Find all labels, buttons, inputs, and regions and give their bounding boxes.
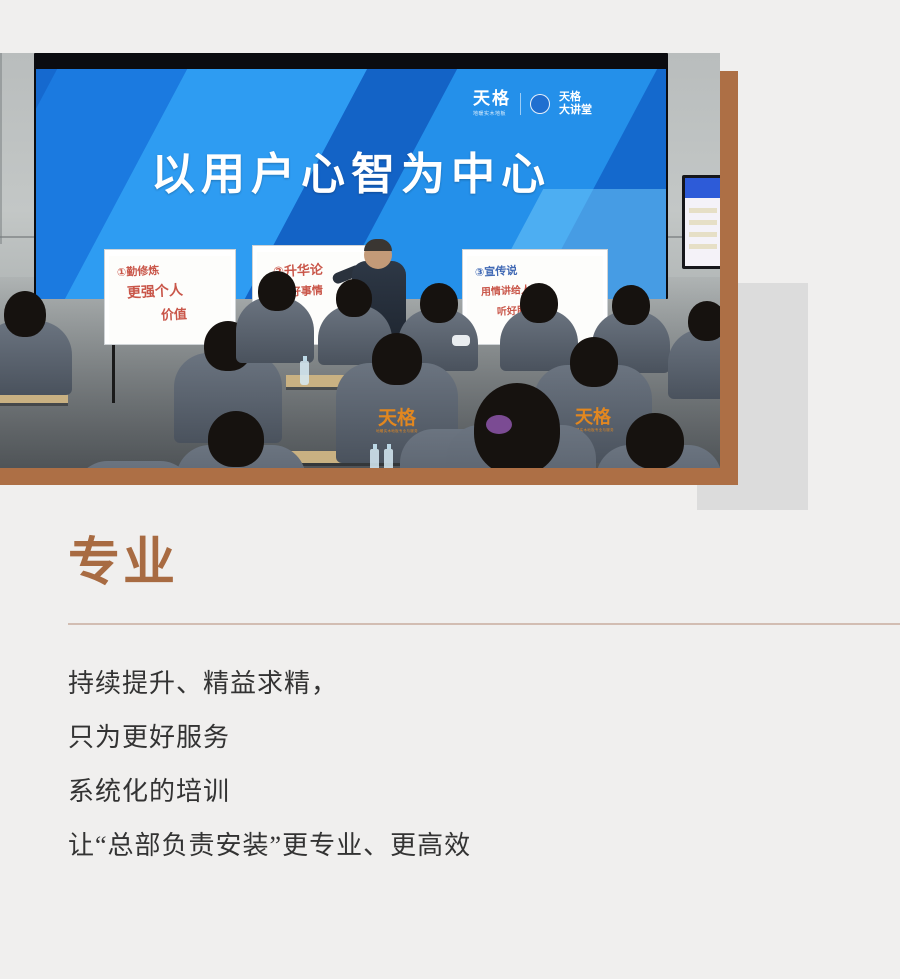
audience-head — [570, 337, 618, 387]
wall-monitor-row — [689, 208, 717, 213]
audience-head — [208, 411, 264, 467]
wall-monitor-screen — [685, 178, 720, 266]
water-bottle — [384, 449, 393, 468]
water-bottle — [370, 449, 379, 468]
frame-bottom-band — [0, 468, 738, 485]
brand-logo-tagline: 地暖实木地板 — [473, 110, 511, 117]
wall-seam-vertical — [0, 53, 2, 244]
audience-head — [372, 333, 422, 385]
audience-head — [4, 291, 46, 337]
audience-head — [688, 301, 720, 341]
flipchart-note: 价值 — [161, 305, 188, 326]
audience-head — [520, 283, 558, 323]
flipchart-note: ③宣传说 — [475, 263, 518, 282]
slide-headline: 以用户心智为中心 — [36, 153, 666, 197]
flipchart-note: ①勤修炼 — [117, 263, 160, 282]
brand-logo-main: 天格 — [473, 91, 511, 108]
audience-head — [420, 283, 458, 323]
body-line: 只为更好服务 — [68, 711, 471, 765]
body-line: 系统化的培训 — [68, 765, 471, 819]
wall-monitor-row — [689, 220, 717, 225]
body-line: 让“总部负责安装”更专业、更高效 — [68, 819, 471, 873]
wall-monitor-row — [689, 232, 717, 237]
hair-scrunchie — [486, 415, 512, 434]
flipchart-note: 更强个人 — [126, 281, 183, 305]
face-mask — [452, 335, 470, 346]
hero-photo: 天格 地暖实木地板 天格 大讲堂 以用户心智为中心 ①勤修炼 — [0, 53, 720, 468]
page-title: 专业 — [68, 534, 178, 594]
audience-head — [612, 285, 650, 325]
title-divider — [68, 623, 900, 625]
wall-monitor — [682, 175, 720, 269]
audience-head — [258, 271, 296, 311]
wall-monitor-header — [685, 178, 720, 198]
body-copy: 持续提升、精益求精， 只为更好服务 系统化的培训 让“总部负责安装”更专业、更高… — [68, 657, 471, 873]
seal-icon — [530, 94, 550, 114]
logo-divider — [520, 93, 521, 115]
wall-monitor-row — [689, 244, 717, 249]
body-line: 持续提升、精益求精， — [68, 657, 471, 711]
water-bottle — [300, 361, 309, 385]
lecture-series-label: 天格 大讲堂 — [559, 91, 592, 116]
lecture-line-2: 大讲堂 — [559, 104, 592, 117]
audience-head — [336, 279, 372, 317]
audience-head — [626, 413, 684, 468]
flipchart-leg — [112, 345, 115, 403]
brand-logo-lockup: 天格 地暖实木地板 天格 大讲堂 — [473, 91, 592, 117]
